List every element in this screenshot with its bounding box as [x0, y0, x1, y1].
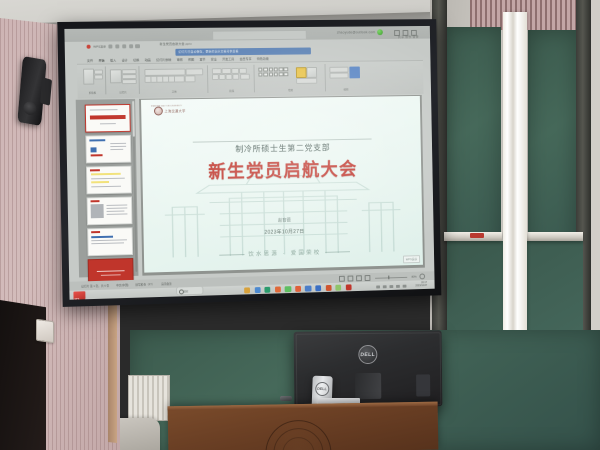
window-titlebar: zhaoyude@outlook.com 共享 协作 登录: [64, 26, 430, 42]
lectern-podium: [168, 402, 439, 450]
edge-icon[interactable]: [265, 287, 271, 293]
slide-thumbnail-4[interactable]: 4: [87, 196, 133, 225]
ime-icon[interactable]: [403, 284, 406, 288]
dell-stand-logo-icon: DELL: [315, 382, 329, 396]
group-label-drawing: 绘图: [256, 87, 325, 92]
wps-icon[interactable]: [254, 287, 260, 293]
podium-university-emblem: [264, 420, 331, 450]
group-label-editing: 编辑: [327, 87, 365, 91]
shape-rect-icon[interactable]: [258, 68, 262, 72]
status-slide-count: 幻灯片 第 1 张，共 6 张: [81, 283, 109, 288]
autosave-banner[interactable]: 幻灯片已自动保存，更新的演示文稿可供查看: [175, 47, 311, 55]
shape-fill-icon[interactable]: [296, 67, 307, 78]
battery-icon[interactable]: [396, 285, 399, 289]
wps-watermark: WPS演示: [403, 255, 420, 263]
shape-gallery[interactable]: [258, 67, 288, 76]
monitor-port-panel: [416, 374, 430, 396]
chevron-up-icon[interactable]: [377, 285, 380, 289]
file-explorer-icon[interactable]: [244, 287, 250, 293]
mail-icon[interactable]: [315, 285, 321, 291]
shape-line-icon[interactable]: [269, 68, 273, 72]
volume-icon[interactable]: [390, 285, 393, 289]
highlight-icon[interactable]: [185, 75, 196, 82]
shape-poly-icon[interactable]: [284, 67, 288, 71]
new-slide-icon[interactable]: [110, 69, 122, 83]
shape-curve-icon[interactable]: [258, 73, 262, 77]
radiator: [128, 375, 170, 421]
ribbon[interactable]: 剪贴板 幻灯片: [77, 60, 424, 99]
shape-outline-icon[interactable]: [306, 67, 317, 78]
board-mullion: [503, 12, 527, 342]
shape-arrow-icon[interactable]: [274, 67, 278, 71]
save-icon[interactable]: [109, 44, 113, 48]
ribbon-group-clipboard[interactable]: 剪贴板: [79, 66, 106, 94]
status-left: 幻灯片 第 1 张，共 6 张 中文(中国) 拼写检查（F7） 演示备注: [81, 281, 172, 288]
section-icon[interactable]: [122, 79, 137, 85]
slide-thumbnail-2[interactable]: 2: [85, 135, 131, 164]
group-label-slides: 幻灯片: [107, 90, 139, 94]
monitor-neck: [355, 373, 381, 399]
wechat-icon[interactable]: [285, 286, 291, 292]
slide-thumbnail-1[interactable]: 1: [85, 104, 131, 133]
paste-icon[interactable]: [83, 69, 94, 85]
motto-rule-right: [325, 251, 350, 252]
group-label-paragraph: 段落: [209, 88, 254, 93]
status-notes[interactable]: 演示备注: [161, 281, 172, 285]
motto-rule-left: [219, 254, 244, 255]
slide-sorter-icon[interactable]: [347, 276, 353, 282]
ribbon-group-paragraph[interactable]: 段落: [209, 65, 255, 93]
wps-logo-icon: [87, 45, 91, 49]
app-icon[interactable]: [346, 284, 352, 290]
document-name: 新生党员启航大会.pptx: [160, 42, 192, 46]
print-icon[interactable]: [115, 44, 119, 48]
slide-surface[interactable]: 上海交通大学 SHANGHAI JIAO TONG UNIVERSITY 制冷所…: [141, 96, 423, 273]
ribbon-group-slides[interactable]: 幻灯片: [107, 66, 140, 94]
zoom-level: 83%: [412, 275, 417, 278]
shape-diamond-icon[interactable]: [269, 73, 273, 77]
redo-icon[interactable]: [129, 44, 133, 48]
university-name: 上海交通大学: [164, 108, 185, 113]
red-chalk: [470, 233, 484, 238]
normal-view-icon[interactable]: [339, 276, 345, 282]
quick-access-toolbar[interactable]: WPS演示: [87, 42, 140, 50]
firefox-icon[interactable]: [305, 285, 311, 291]
wps-presentation-window: zhaoyude@outlook.com 共享 协作 登录 WPS演示: [64, 26, 434, 300]
slideshow-icon[interactable]: [364, 275, 370, 281]
dell-stand-logo-text: DELL: [317, 387, 327, 391]
taskbar-clock[interactable]: 20:17 2023/10/27: [415, 283, 427, 289]
dell-logo-text: DELL: [360, 351, 375, 357]
ribbon-group-editing[interactable]: 编辑: [326, 64, 365, 92]
arrange-icon[interactable]: [296, 78, 317, 84]
group-label-font: 字体: [141, 89, 208, 94]
shape-oval-icon[interactable]: [279, 67, 283, 71]
system-tray[interactable]: [377, 284, 407, 288]
dell-logo-icon: DELL: [358, 345, 377, 364]
projection-screen: zhaoyude@outlook.com 共享 协作 登录 WPS演示: [57, 19, 441, 307]
undo-icon[interactable]: [122, 44, 126, 48]
chalk-tray-right: [527, 232, 583, 241]
classroom-photo: zhaoyude@outlook.com 共享 协作 登录 WPS演示: [0, 0, 600, 450]
folder-icon[interactable]: [336, 284, 342, 290]
reading-view-icon[interactable]: [356, 275, 362, 281]
clock-date: 2023/10/27: [415, 285, 427, 288]
ribbon-group-drawing[interactable]: 绘图: [255, 64, 326, 92]
taskbar-search-label: 搜索: [183, 289, 188, 293]
ribbon-group-font[interactable]: 字体: [140, 65, 208, 94]
font-color-icon[interactable]: [174, 75, 185, 82]
account-avatar[interactable]: [377, 29, 383, 35]
fit-slide-icon[interactable]: [419, 274, 425, 280]
slide-thumbnail-5[interactable]: 5: [87, 227, 133, 256]
shape-banner-icon[interactable]: [284, 72, 288, 76]
network-icon[interactable]: [383, 285, 386, 289]
line-spacing-icon[interactable]: [240, 74, 250, 80]
status-spellcheck[interactable]: 拼写检查（F7）: [135, 282, 154, 287]
group-label-clipboard: 剪贴板: [80, 90, 106, 94]
shape-star-icon[interactable]: [274, 72, 278, 76]
select-icon[interactable]: [349, 67, 360, 79]
taskbar-search[interactable]: 搜索: [176, 286, 203, 295]
touch-mode-icon[interactable]: [135, 44, 139, 48]
replace-icon[interactable]: [329, 73, 348, 79]
microphone-base: [280, 396, 292, 401]
shape-triangle-icon[interactable]: [264, 73, 268, 77]
shape-rounded-icon[interactable]: [263, 68, 267, 72]
right-wall-strip: [470, 0, 590, 30]
zoom-knob[interactable]: [388, 276, 390, 280]
shape-callout-icon[interactable]: [279, 72, 283, 76]
justify-icon[interactable]: [232, 74, 239, 80]
speaker-cone-icon: [23, 101, 37, 116]
slide-thumbnail-3[interactable]: 3: [86, 166, 132, 195]
zoom-slider[interactable]: [375, 277, 407, 279]
chrome-icon[interactable]: [275, 286, 281, 292]
ribbon-search-box[interactable]: [212, 29, 307, 40]
account-email[interactable]: zhaoyude@outlook.com: [337, 30, 375, 34]
qat-app-label: WPS演示: [93, 45, 106, 49]
status-language[interactable]: 中文(中国): [116, 283, 128, 287]
copy-icon[interactable]: [94, 74, 103, 79]
teams-icon[interactable]: [325, 285, 331, 291]
screen-surface: zhaoyude@outlook.com 共享 协作 登录 WPS演示: [64, 26, 434, 300]
start-button[interactable]: WPS: [73, 291, 85, 299]
qq-icon[interactable]: [295, 286, 301, 292]
titlebar-meta: 共享 协作 登录: [398, 35, 419, 39]
wall-outlet: [36, 319, 54, 344]
slide-canvas[interactable]: 上海交通大学 SHANGHAI JIAO TONG UNIVERSITY 制冷所…: [139, 95, 425, 276]
autosave-banner-text: 幻灯片已自动保存，更新的演示文稿可供查看: [178, 50, 238, 55]
slide-navigator[interactable]: 1 2 3: [76, 99, 139, 278]
